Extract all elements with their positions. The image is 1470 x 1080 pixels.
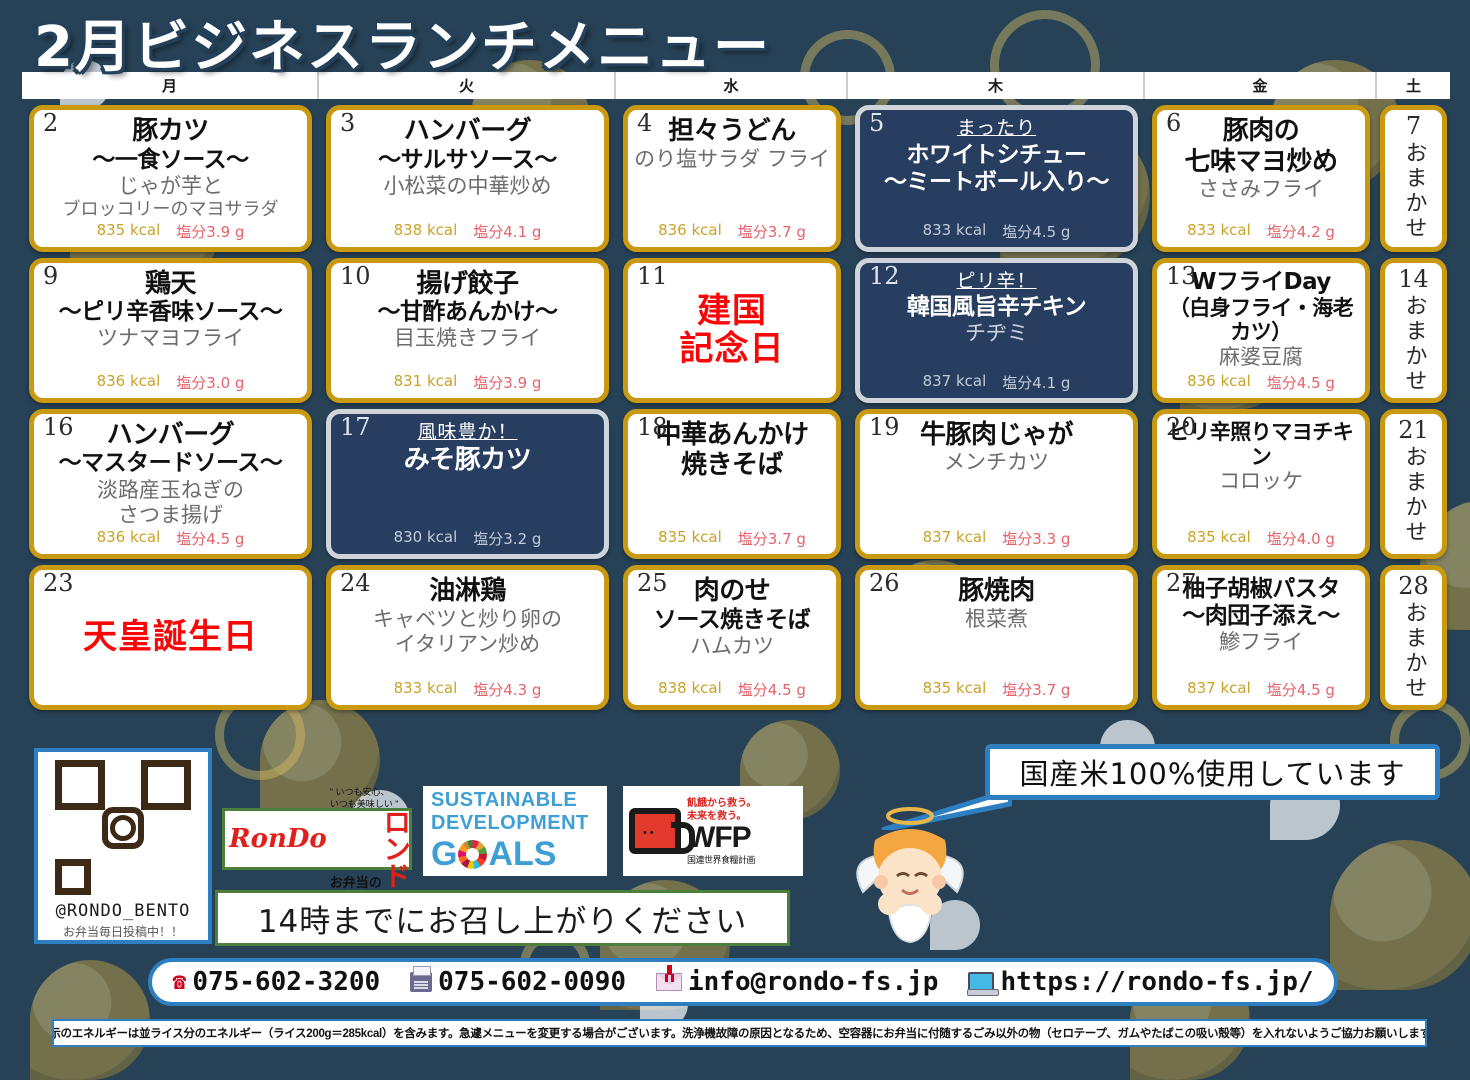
day-number: 18 [637,415,668,440]
calendar-cell-day-18[interactable]: 18中華あんかけ焼きそば835 kcal塩分3.7 g [623,409,841,559]
calendar-cell-day-20[interactable]: 20ピリ辛照りマヨチキンコロッケ835 kcal塩分4.0 g [1152,409,1370,559]
omakase-label: おまかせ [1398,141,1430,241]
nutrition-row: 833 kcal塩分4.3 g [394,679,542,700]
day-number: 26 [869,571,900,596]
dish-info: 豚カツ～一食ソース～じゃが芋とブロッコリーのマヨサラダ [40,114,301,221]
omakase-label: おまかせ [1398,601,1430,701]
dish-info: 油淋鶏キャベツと炒り卵のイタリアン炒め [337,574,598,657]
salt-value: 塩分4.0 g [1267,528,1335,549]
day-number: 17 [340,415,371,440]
dish-main-name: ハンバーグ [337,116,598,147]
salt-value: 塩分4.3 g [473,679,541,700]
calorie-value: 837 kcal [923,528,987,549]
salt-value: 塩分3.9 g [473,372,541,393]
dish-side-item-1: ハムカツ [634,634,830,659]
calorie-value: 833 kcal [394,679,458,700]
dish-side-item-1: キャベツと炒り卵の [337,607,598,632]
dish-side-item-1: 麻婆豆腐 [1163,345,1359,370]
dish-side-item-1: メンチカツ [866,450,1127,475]
nutrition-row: 835 kcal塩分4.0 g [1187,528,1335,549]
day-of-week-金: 金 [1145,72,1377,99]
dish-main-name-line-2: （白身フライ・海老カツ） [1163,296,1359,346]
dish-info: 牛豚肉じゃがメンチカツ [866,418,1127,476]
email-item[interactable]: info@rondo-fs.jp [656,967,938,997]
salt-value: 塩分4.1 g [473,221,541,242]
dish-info: まったりホワイトシチュー～ミートボール入り～ [866,114,1127,196]
nutrition-row: 835 kcal塩分3.9 g [97,221,245,242]
nutrition-row: 836 kcal塩分4.5 g [97,528,245,549]
salt-value: 塩分4.5 g [1002,221,1070,242]
wfp-logo: • • 飢餓から救う。 未来を救う。 WFP 国連世界食糧計画 [623,786,803,876]
calorie-value: 837 kcal [1187,679,1251,700]
nutrition-row: 833 kcal塩分4.2 g [1187,221,1335,242]
dish-main-name-line-2: ソース焼きそば [634,607,830,634]
dish-main-name: 豚焼肉 [866,576,1127,607]
salt-value: 塩分3.7 g [738,528,806,549]
dish-side-item-1: 淡路産玉ねぎの [40,478,301,503]
disclaimer-note: 表示のエネルギーは並ライス分のエネルギー（ライス200g＝285kcal）を含み… [52,1019,1427,1047]
mail-icon [656,973,682,991]
dish-main-name: 揚げ餃子 [337,269,598,300]
day-number: 10 [340,264,371,289]
calendar-cell-day-3[interactable]: 3ハンバーグ～サルサソース～小松菜の中華炒め838 kcal塩分4.1 g [326,105,609,252]
rondo-script-mark: RonDo [229,826,327,852]
dish-main-name: ホワイトシチュー [866,142,1127,169]
dish-info: 担々うどんのり塩サラダ フライ [634,114,830,172]
dish-main-name-line-2: ～肉団子添え～ [1163,603,1359,630]
dish-main-name: みそ豚カツ [337,445,598,476]
telephone-item[interactable]: ☎ 075-602-3200 [172,967,380,997]
dish-accent-label: まったり [866,116,1127,142]
calorie-value: 835 kcal [97,221,161,242]
wfp-jp-line-1: 飢餓から救う。 [687,797,756,810]
nutrition-row: 830 kcal塩分3.2 g [394,528,542,549]
calendar-cell-day-2[interactable]: 2豚カツ～一食ソース～じゃが芋とブロッコリーのマヨサラダ835 kcal塩分3.… [29,105,312,252]
fax-number: 075-602-0090 [438,967,626,997]
nutrition-row: 835 kcal塩分3.7 g [923,679,1071,700]
sdg-line-3: G ALS [431,835,607,874]
calendar-cell-day-5[interactable]: 5まったりホワイトシチュー～ミートボール入り～833 kcal塩分4.5 g [855,105,1138,252]
dish-sauce-label: ～ピリ辛香味ソース～ [40,299,301,326]
calendar-cell-day-7[interactable]: 7おまかせ [1380,105,1447,252]
holiday-label: 天皇誕生日 [83,618,258,656]
nutrition-row: 837 kcal塩分3.3 g [923,528,1071,549]
calorie-value: 838 kcal [658,679,722,700]
day-number: 5 [869,111,884,136]
monitor-icon [968,972,994,992]
nutrition-row: 835 kcal塩分3.7 g [658,528,806,549]
dish-side-item-1: チヂミ [866,321,1127,346]
sdg-line-2: DEVELOPMENT [431,812,607,835]
day-of-week-木: 木 [848,72,1145,99]
calendar-cell-day-28[interactable]: 28おまかせ [1380,565,1447,710]
nutrition-row: 836 kcal塩分3.7 g [658,221,806,242]
rondo-obento-label: お弁当の [330,872,382,891]
calendar-cell-day-23[interactable]: 23天皇誕生日 [29,565,312,710]
salt-value: 塩分3.7 g [738,221,806,242]
salt-value: 塩分3.7 g [1002,679,1070,700]
calendar-week-row: 23天皇誕生日24油淋鶏キャベツと炒り卵のイタリアン炒め833 kcal塩分4.… [22,565,1450,710]
dish-info: 豚焼肉根菜煮 [866,574,1127,632]
telephone-number: 075-602-3200 [192,967,380,997]
nutrition-row: 838 kcal塩分4.1 g [394,221,542,242]
domestic-rice-callout: 国産米100%使用しています [985,744,1440,800]
calendar-cell-day-9[interactable]: 9鶏天～ピリ辛香味ソース～ツナマヨフライ836 kcal塩分3.0 g [29,258,312,403]
day-number: 20 [1166,415,1197,440]
website-url: https://rondo-fs.jp/ [1000,967,1313,997]
calendar-cell-day-14[interactable]: 14おまかせ [1380,258,1447,403]
nutrition-row: 838 kcal塩分4.5 g [658,679,806,700]
salt-value: 塩分4.1 g [1002,372,1070,393]
dish-main-name-line-2: 七味マヨ炒め [1163,147,1359,178]
calorie-value: 836 kcal [1187,372,1251,393]
calendar-cell-day-24[interactable]: 24油淋鶏キャベツと炒り卵のイタリアン炒め833 kcal塩分4.3 g [326,565,609,710]
salt-value: 塩分3.9 g [176,221,244,242]
day-number: 3 [340,111,355,136]
calendar-cell-day-4[interactable]: 4担々うどんのり塩サラダ フライ836 kcal塩分3.7 g [623,105,841,252]
dish-info: ハンバーグ～サルサソース～小松菜の中華炒め [337,114,598,199]
dish-info: 豚肉の七味マヨ炒めささみフライ [1163,114,1359,203]
omakase-label: おまかせ [1398,294,1430,394]
calorie-value: 831 kcal [394,372,458,393]
sdg-als-letters: ALS [488,835,556,874]
nutrition-row: 833 kcal塩分4.5 g [923,221,1071,242]
rondo-tagline-1: " いつも安心、 [330,787,410,798]
day-number: 25 [637,571,668,596]
dish-side-item-1: のり塩サラダ フライ [634,147,830,172]
salt-value: 塩分3.3 g [1002,528,1070,549]
wfp-cup-icon: • • [629,808,681,854]
dish-accent-label: ピリ辛！ [866,269,1127,295]
calendar-week-row: 9鶏天～ピリ辛香味ソース～ツナマヨフライ836 kcal塩分3.0 g10揚げ餃… [22,258,1450,403]
dish-info: ハンバーグ～マスタードソース～淡路産玉ねぎのさつま揚げ [40,418,301,528]
calorie-value: 837 kcal [923,372,987,393]
dish-info: 風味豊か！みそ豚カツ [337,418,598,476]
omakase-label: おまかせ [1398,445,1430,545]
rondo-kana-label: ロンド [384,810,410,891]
dish-main-name: 牛豚肉じゃが [866,420,1127,451]
calendar-weeks: 2豚カツ～一食ソース～じゃが芋とブロッコリーのマヨサラダ835 kcal塩分3.… [22,105,1450,710]
calorie-value: 836 kcal [658,221,722,242]
holiday-text-line: 記念日 [680,330,785,368]
calendar-cell-day-19[interactable]: 19牛豚肉じゃがメンチカツ837 kcal塩分3.3 g [855,409,1138,559]
dish-side-item-2: さつま揚げ [40,503,301,528]
day-number: 23 [43,571,74,596]
nutrition-row: 836 kcal塩分3.0 g [97,372,245,393]
salt-value: 塩分4.5 g [1267,372,1335,393]
calendar-cell-day-16[interactable]: 16ハンバーグ～マスタードソース～淡路産玉ねぎのさつま揚げ836 kcal塩分4… [29,409,312,559]
calorie-value: 836 kcal [97,528,161,549]
instagram-icon [102,807,144,849]
dish-side-item-1: ささみフライ [1163,177,1359,202]
calendar: 月火水木金土 2豚カツ～一食ソース～じゃが芋とブロッコリーのマヨサラダ835 k… [22,72,1450,710]
sdg-line-1: SUSTAINABLE [431,789,607,812]
salt-value: 塩分3.2 g [473,528,541,549]
day-number: 14 [1398,267,1429,292]
qr-code [53,758,193,897]
salt-value: 塩分4.5 g [738,679,806,700]
wfp-cup-face: • • [643,827,654,839]
salt-value: 塩分4.5 g [176,528,244,549]
calorie-value: 833 kcal [1187,221,1251,242]
calendar-cell-day-13[interactable]: 13WフライDay（白身フライ・海老カツ）麻婆豆腐836 kcal塩分4.5 g [1152,258,1370,403]
contact-bar: ☎ 075-602-3200 075-602-0090 info@rondo-f… [148,958,1338,1006]
rondo-logo: RonDo " いつも安心、 いつも美味しい " お弁当の ロンド [222,808,412,870]
dish-sauce-label: ～サルサソース～ [337,147,598,174]
salt-value: 塩分4.5 g [1267,679,1335,700]
calendar-cell-day-6[interactable]: 6豚肉の七味マヨ炒めささみフライ833 kcal塩分4.2 g [1152,105,1370,252]
instagram-handle: @RONDO_BENTO [56,901,191,921]
calorie-value: 838 kcal [394,221,458,242]
fax-icon [410,972,432,992]
day-number: 21 [1398,418,1429,443]
angel-illustration [845,800,975,950]
dish-side-item-1: じゃが芋と [40,174,301,199]
instagram-qr-box[interactable]: @RONDO_BENTO お弁当毎日投稿中！！ [34,748,212,944]
nutrition-row: 836 kcal塩分4.5 g [1187,372,1335,393]
dish-main-name: 豚肉の [1163,116,1359,147]
dish-main-name: 油淋鶏 [337,576,598,607]
dish-side-item-1: 小松菜の中華炒め [337,174,598,199]
calendar-cell-day-26[interactable]: 26豚焼肉根菜煮835 kcal塩分3.7 g [855,565,1138,710]
day-number: 11 [637,264,668,289]
dish-side-item-1: コロッケ [1163,469,1359,494]
holiday-label: 建国記念日 [680,292,785,368]
nutrition-row: 837 kcal塩分4.5 g [1187,679,1335,700]
dish-side-item-1: 根菜煮 [866,607,1127,632]
nutrition-row: 837 kcal塩分4.1 g [923,372,1071,393]
sdg-g-letter: G [431,835,457,874]
calorie-value: 830 kcal [394,528,458,549]
wfp-subtitle: 国連世界食糧計画 [687,853,756,866]
dish-main-name: 鶏天 [40,269,301,300]
dish-accent-label: 風味豊か！ [337,420,598,446]
dish-side-item-1: 鯵フライ [1163,630,1359,655]
salt-value: 塩分3.0 g [176,372,244,393]
dish-sauce-label: ～甘酢あんかけ～ [337,299,598,326]
dish-side-item-2: イタリアン炒め [337,632,598,657]
calendar-cell-day-21[interactable]: 21おまかせ [1380,409,1447,559]
day-number: 7 [1406,114,1421,139]
calorie-value: 835 kcal [923,679,987,700]
dish-main-name: 豚カツ [40,116,301,147]
calendar-week-row: 16ハンバーグ～マスタードソース～淡路産玉ねぎのさつま揚げ836 kcal塩分4… [22,409,1450,559]
day-number: 13 [1166,264,1197,289]
fax-item: 075-602-0090 [410,967,626,997]
day-number: 6 [1166,111,1181,136]
dish-main-name: 韓国風旨辛チキン [866,294,1127,321]
telephone-icon: ☎ [172,969,186,995]
dish-sauce-label: ～一食ソース～ [40,147,301,174]
sdg-logo: SUSTAINABLE DEVELOPMENT G ALS [423,786,607,876]
page-title: 2月ビジネスランチメニュー [34,2,771,83]
eat-by-notice: 14時までにお召し上がりください [215,890,790,946]
calendar-cell-day-12[interactable]: 12ピリ辛！韓国風旨辛チキンチヂミ837 kcal塩分4.1 g [855,258,1138,403]
calorie-value: 835 kcal [658,528,722,549]
calendar-cell-day-17[interactable]: 17風味豊か！みそ豚カツ830 kcal塩分3.2 g [326,409,609,559]
day-of-week-土: 土 [1377,72,1450,99]
dish-sauce-label: ～ミートボール入り～ [866,169,1127,196]
calendar-cell-day-10[interactable]: 10揚げ餃子～甘酢あんかけ～目玉焼きフライ831 kcal塩分3.9 g [326,258,609,403]
dish-side-item-1: ツナマヨフライ [40,326,301,351]
calendar-cell-day-25[interactable]: 25肉のせソース焼きそばハムカツ838 kcal塩分4.5 g [623,565,841,710]
email-address: info@rondo-fs.jp [688,967,938,997]
dish-sauce-label: ～マスタードソース～ [40,450,301,477]
calorie-value: 833 kcal [923,221,987,242]
dish-side-item-2: ブロッコリーのマヨサラダ [40,199,301,221]
wfp-acronym: WFP [687,823,756,853]
dish-info: ピリ辛！韓国風旨辛チキンチヂミ [866,267,1127,347]
calorie-value: 835 kcal [1187,528,1251,549]
dish-side-item-1: 目玉焼きフライ [337,326,598,351]
day-number: 9 [43,264,58,289]
dish-main-name: ハンバーグ [40,420,301,451]
calendar-cell-day-11[interactable]: 11建国記念日 [623,258,841,403]
dish-info: 揚げ餃子～甘酢あんかけ～目玉焼きフライ [337,267,598,352]
salt-value: 塩分4.2 g [1267,221,1335,242]
dish-main-name-line-2: 焼きそば [634,450,830,481]
day-number: 2 [43,111,58,136]
website-item[interactable]: https://rondo-fs.jp/ [968,967,1313,997]
nutrition-row: 831 kcal塩分3.9 g [394,372,542,393]
holiday-text-line: 天皇誕生日 [83,618,258,656]
day-number: 4 [637,111,652,136]
day-number: 27 [1166,571,1197,596]
day-number: 16 [43,415,74,440]
day-number: 24 [340,571,371,596]
holiday-text-line: 建国 [680,292,785,330]
day-number: 28 [1398,574,1429,599]
day-number: 12 [869,264,900,289]
calendar-week-row: 2豚カツ～一食ソース～じゃが芋とブロッコリーのマヨサラダ835 kcal塩分3.… [22,105,1450,252]
dish-info: 鶏天～ピリ辛香味ソース～ツナマヨフライ [40,267,301,352]
dish-main-name: 担々うどん [634,116,830,147]
instagram-note: お弁当毎日投稿中！！ [63,923,183,940]
calorie-value: 836 kcal [97,372,161,393]
sdg-wheel-icon [458,840,487,869]
calendar-cell-day-27[interactable]: 27柚子胡椒パスタ～肉団子添え～鯵フライ837 kcal塩分4.5 g [1152,565,1370,710]
day-number: 19 [869,415,900,440]
